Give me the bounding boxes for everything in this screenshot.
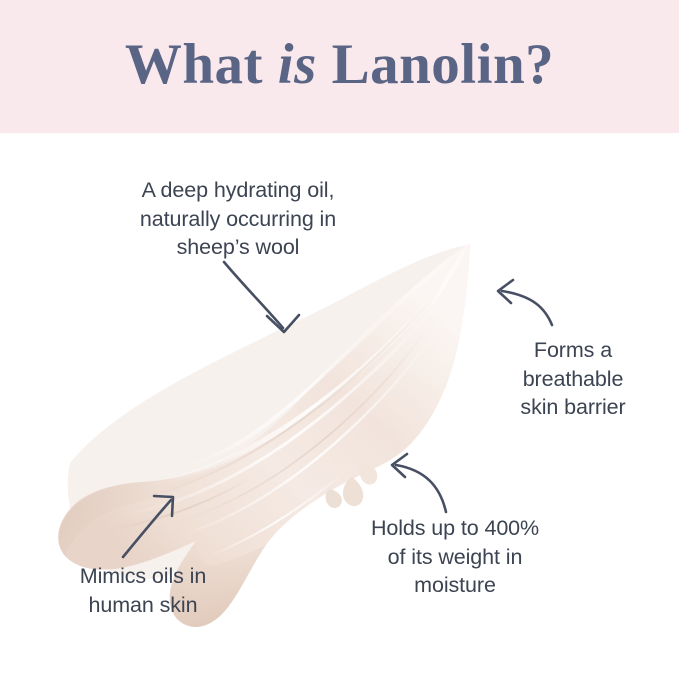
page-title-emphasis: is: [278, 33, 317, 96]
page-title-part2: Lanolin?: [317, 33, 554, 96]
annotation-mimics-skin-oils: Mimics oils in human skin: [38, 562, 248, 619]
page-title-part1: What: [125, 33, 278, 96]
annotation-holds-moisture: Holds up to 400% of its weight in moistu…: [330, 514, 580, 600]
page-title: What is Lanolin?: [125, 36, 554, 97]
annotation-breathable-barrier: Forms a breathable skin barrier: [478, 336, 668, 422]
annotation-deep-hydrating-oil: A deep hydrating oil, naturally occurrin…: [108, 176, 368, 262]
infographic-page: What is Lanolin?: [0, 0, 679, 679]
header-band: What is Lanolin?: [0, 0, 679, 133]
